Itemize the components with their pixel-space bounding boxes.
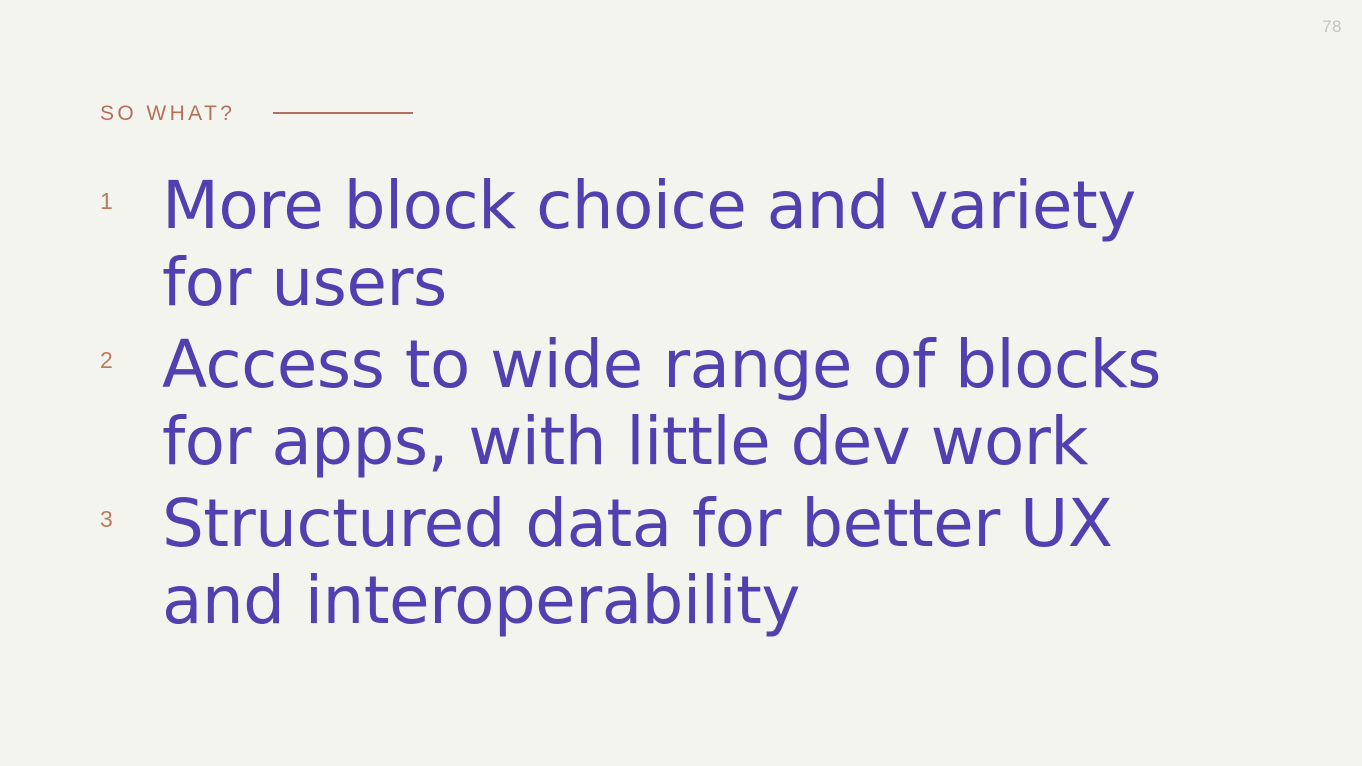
horizontal-rule-decoration (273, 112, 413, 114)
list-item-marker: 2 (100, 327, 162, 372)
list-item-text: Structured data for better UX and intero… (162, 486, 1300, 639)
list-item-marker: 3 (100, 486, 162, 531)
list-item: 1 More block choice and variety for user… (100, 168, 1300, 321)
list-item-text: More block choice and variety for users (162, 168, 1300, 321)
list-item: 2 Access to wide range of blocks for app… (100, 327, 1300, 480)
list-item: 3 Structured data for better UX and inte… (100, 486, 1300, 639)
section-eyebrow: SO WHAT? (100, 96, 413, 130)
list-item-marker: 1 (100, 168, 162, 213)
numbered-list: 1 More block choice and variety for user… (100, 168, 1300, 645)
eyebrow-label: SO WHAT? (100, 103, 235, 124)
page-number: 78 (1322, 18, 1342, 35)
slide-canvas: 78 SO WHAT? 1 More block choice and vari… (0, 0, 1362, 766)
list-item-text: Access to wide range of blocks for apps,… (162, 327, 1300, 480)
